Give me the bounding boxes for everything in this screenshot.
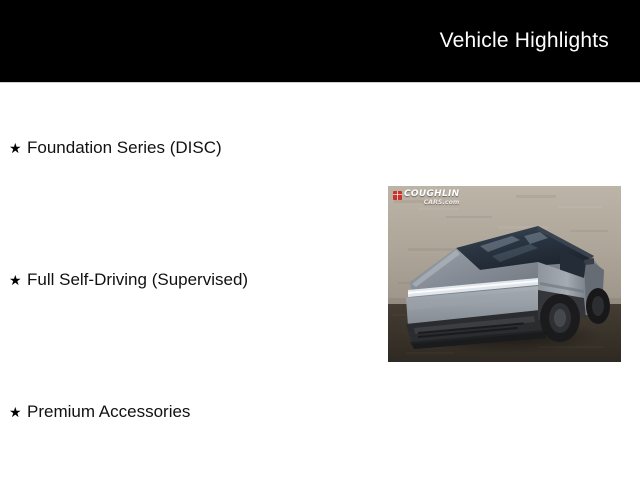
- header-divider: [0, 82, 640, 83]
- vehicle-photo: COUGHLIN CARS.com: [388, 186, 621, 362]
- highlight-label: Full Self-Driving (Supervised): [27, 270, 248, 290]
- coughlin-logo-icon: [393, 191, 402, 200]
- cybertruck-illustration: [388, 186, 621, 362]
- photo-watermark: COUGHLIN CARS.com: [393, 190, 460, 206]
- highlight-label: Foundation Series (DISC): [27, 138, 222, 158]
- page-title: Vehicle Highlights: [440, 27, 609, 55]
- star-bullet-icon: ★: [9, 270, 27, 290]
- watermark-brand: COUGHLIN: [404, 190, 460, 199]
- watermark-subtext: CARS.com: [404, 200, 460, 206]
- star-bullet-icon: ★: [9, 138, 27, 158]
- watermark-text: COUGHLIN CARS.com: [404, 190, 460, 206]
- star-bullet-icon: ★: [9, 402, 27, 422]
- list-item: ★ Full Self-Driving (Supervised): [9, 270, 248, 290]
- header-bar: Vehicle Highlights: [0, 0, 640, 82]
- list-item: ★ Foundation Series (DISC): [9, 138, 222, 158]
- highlight-label: Premium Accessories: [27, 402, 190, 422]
- list-item: ★ Premium Accessories: [9, 402, 190, 422]
